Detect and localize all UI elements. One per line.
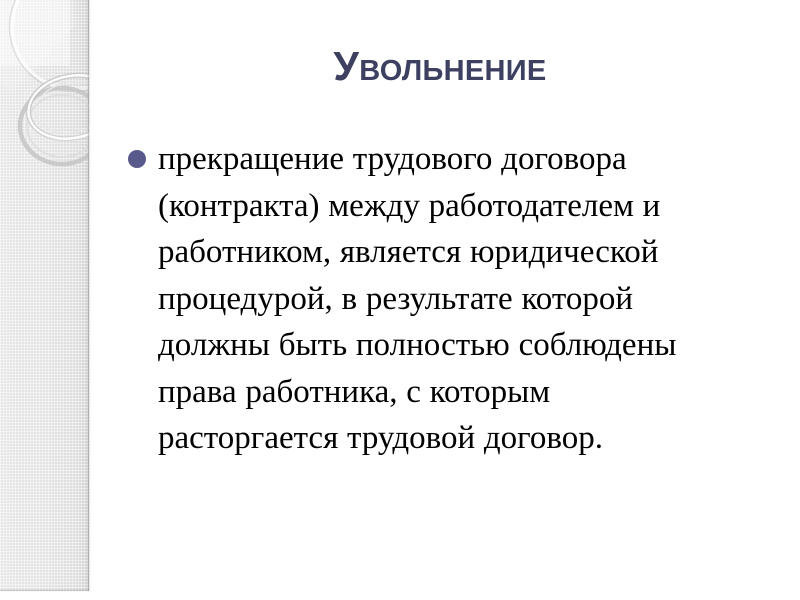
ring-highlight (23, 68, 89, 147)
bullet-list-item: прекращение трудового договора (контракт… (128, 136, 688, 462)
filled-circle-bullet-icon (128, 150, 146, 168)
sidebar-bottom-edge (0, 589, 89, 591)
sidebar-right-edge (87, 0, 89, 591)
slide-body: прекращение трудового договора (контракт… (128, 136, 688, 462)
bullet-item-text: прекращение трудового договора (контракт… (158, 136, 688, 462)
decorative-sidebar (0, 0, 89, 591)
slide-canvas: Увольнение прекращение трудового договор… (0, 0, 800, 600)
sidebar-ornament-group (0, 0, 89, 591)
slide-title: Увольнение (110, 44, 770, 90)
